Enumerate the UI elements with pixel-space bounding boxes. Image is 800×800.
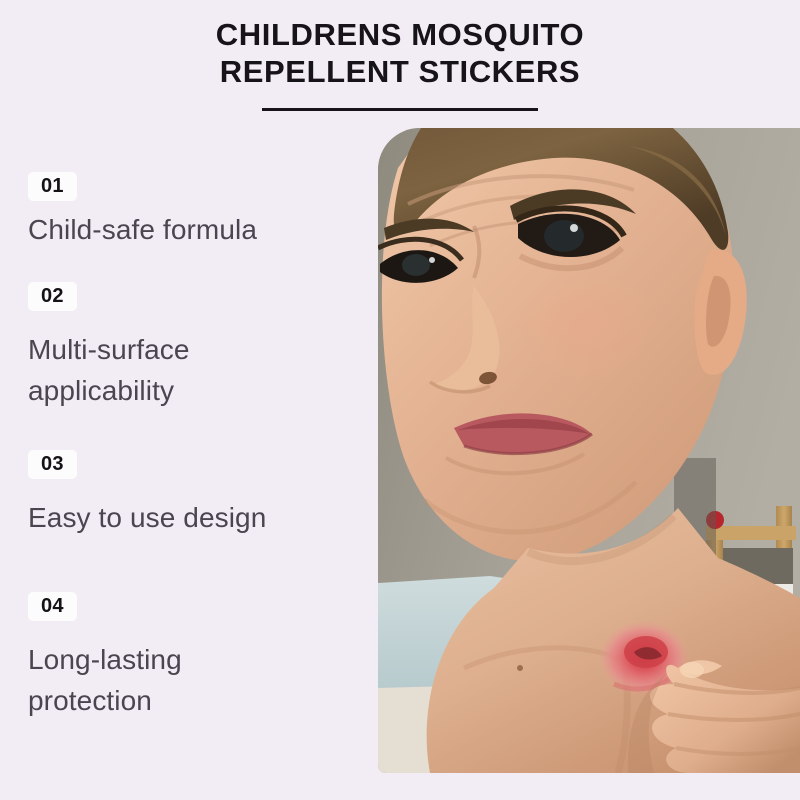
title-divider (262, 108, 538, 111)
list-item: 02 Multi-surface applicability (28, 282, 268, 411)
feature-number-badge: 01 (28, 172, 77, 201)
feature-number-badge: 03 (28, 450, 77, 479)
feature-number-badge: 04 (28, 592, 77, 621)
list-item: 04 Long-lasting protection (28, 592, 248, 721)
list-item: 03 Easy to use design (28, 450, 266, 538)
photo-illustration (378, 128, 800, 773)
list-item: 01 Child-safe formula (28, 172, 257, 250)
page-title-line-2: REPELLENT STICKERS (0, 53, 800, 90)
page-title-line-1: CHILDRENS MOSQUITO (0, 16, 800, 53)
product-photo (378, 128, 800, 773)
feature-label: Long-lasting protection (28, 639, 248, 721)
page-title: CHILDRENS MOSQUITO REPELLENT STICKERS (0, 16, 800, 111)
feature-label: Child-safe formula (28, 209, 257, 250)
feature-label: Easy to use design (28, 497, 266, 538)
feature-label: Multi-surface applicability (28, 329, 268, 411)
feature-number-badge: 02 (28, 282, 77, 311)
